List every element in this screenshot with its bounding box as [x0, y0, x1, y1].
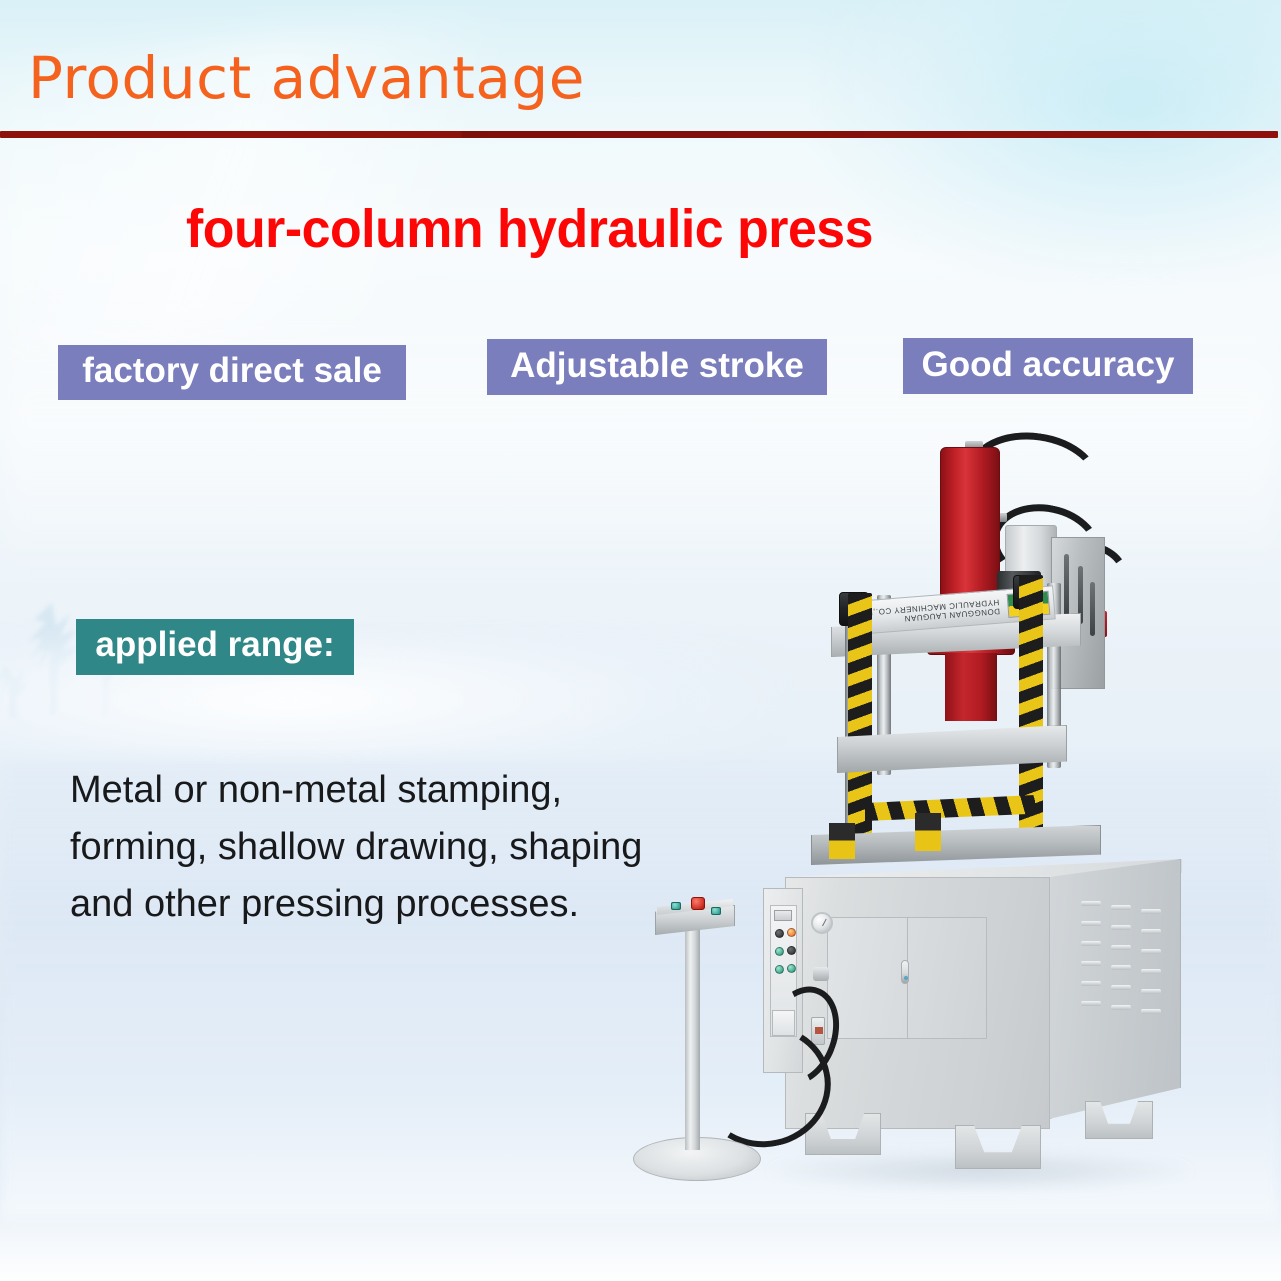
pendant-button-green-1[interactable] — [671, 902, 681, 910]
hydraulic-press-image: DONGGUAN LAUGUAN HYDRAULIC MACHINERY CO.… — [615, 425, 1215, 1255]
title-divider — [0, 131, 1278, 138]
safety-stripe-bar — [865, 795, 1035, 821]
control-panel-display — [774, 910, 792, 921]
mounting-foot-side — [1085, 1101, 1153, 1139]
feature-badge-good-accuracy: Good accuracy — [903, 338, 1193, 394]
relief-valve[interactable] — [813, 967, 829, 981]
cylinder-ram — [945, 653, 997, 721]
cabinet-vent-grid — [1081, 901, 1165, 1031]
emergency-stop-button[interactable] — [691, 897, 705, 910]
page-title: Product advantage — [28, 46, 585, 110]
product-heading: four-column hydraulic press — [186, 198, 873, 260]
mounting-foot-right — [955, 1125, 1041, 1169]
pedestal-pole — [685, 930, 700, 1150]
indicator-lamp-amber — [787, 928, 796, 937]
product-advantage-banner: Product advantage four-column hydraulic … — [0, 0, 1281, 1281]
pendant-button-green-2[interactable] — [711, 907, 721, 915]
pressure-gauge — [811, 912, 833, 934]
bolster-guard-left — [829, 823, 855, 859]
control-button-green-1[interactable] — [775, 947, 784, 956]
cabinet-door-handle[interactable] — [901, 960, 909, 984]
control-button-green-2[interactable] — [775, 965, 784, 974]
nameplate-text: DONGGUAN LAUGUAN HYDRAULIC MACHINERY CO.… — [855, 597, 1008, 627]
applied-range-label: applied range: — [76, 619, 354, 675]
bolster-guard-right — [915, 813, 941, 851]
feature-badge-adjustable-stroke: Adjustable stroke — [487, 339, 827, 395]
control-knob-black[interactable] — [775, 929, 784, 938]
feature-badge-factory-direct-sale: factory direct sale — [58, 345, 406, 400]
control-button-green-3[interactable] — [787, 964, 796, 973]
corner-glow — [821, 0, 1281, 280]
applied-range-body: Metal or non-metal stamping, forming, sh… — [70, 762, 680, 933]
control-selector-black[interactable] — [787, 946, 796, 955]
